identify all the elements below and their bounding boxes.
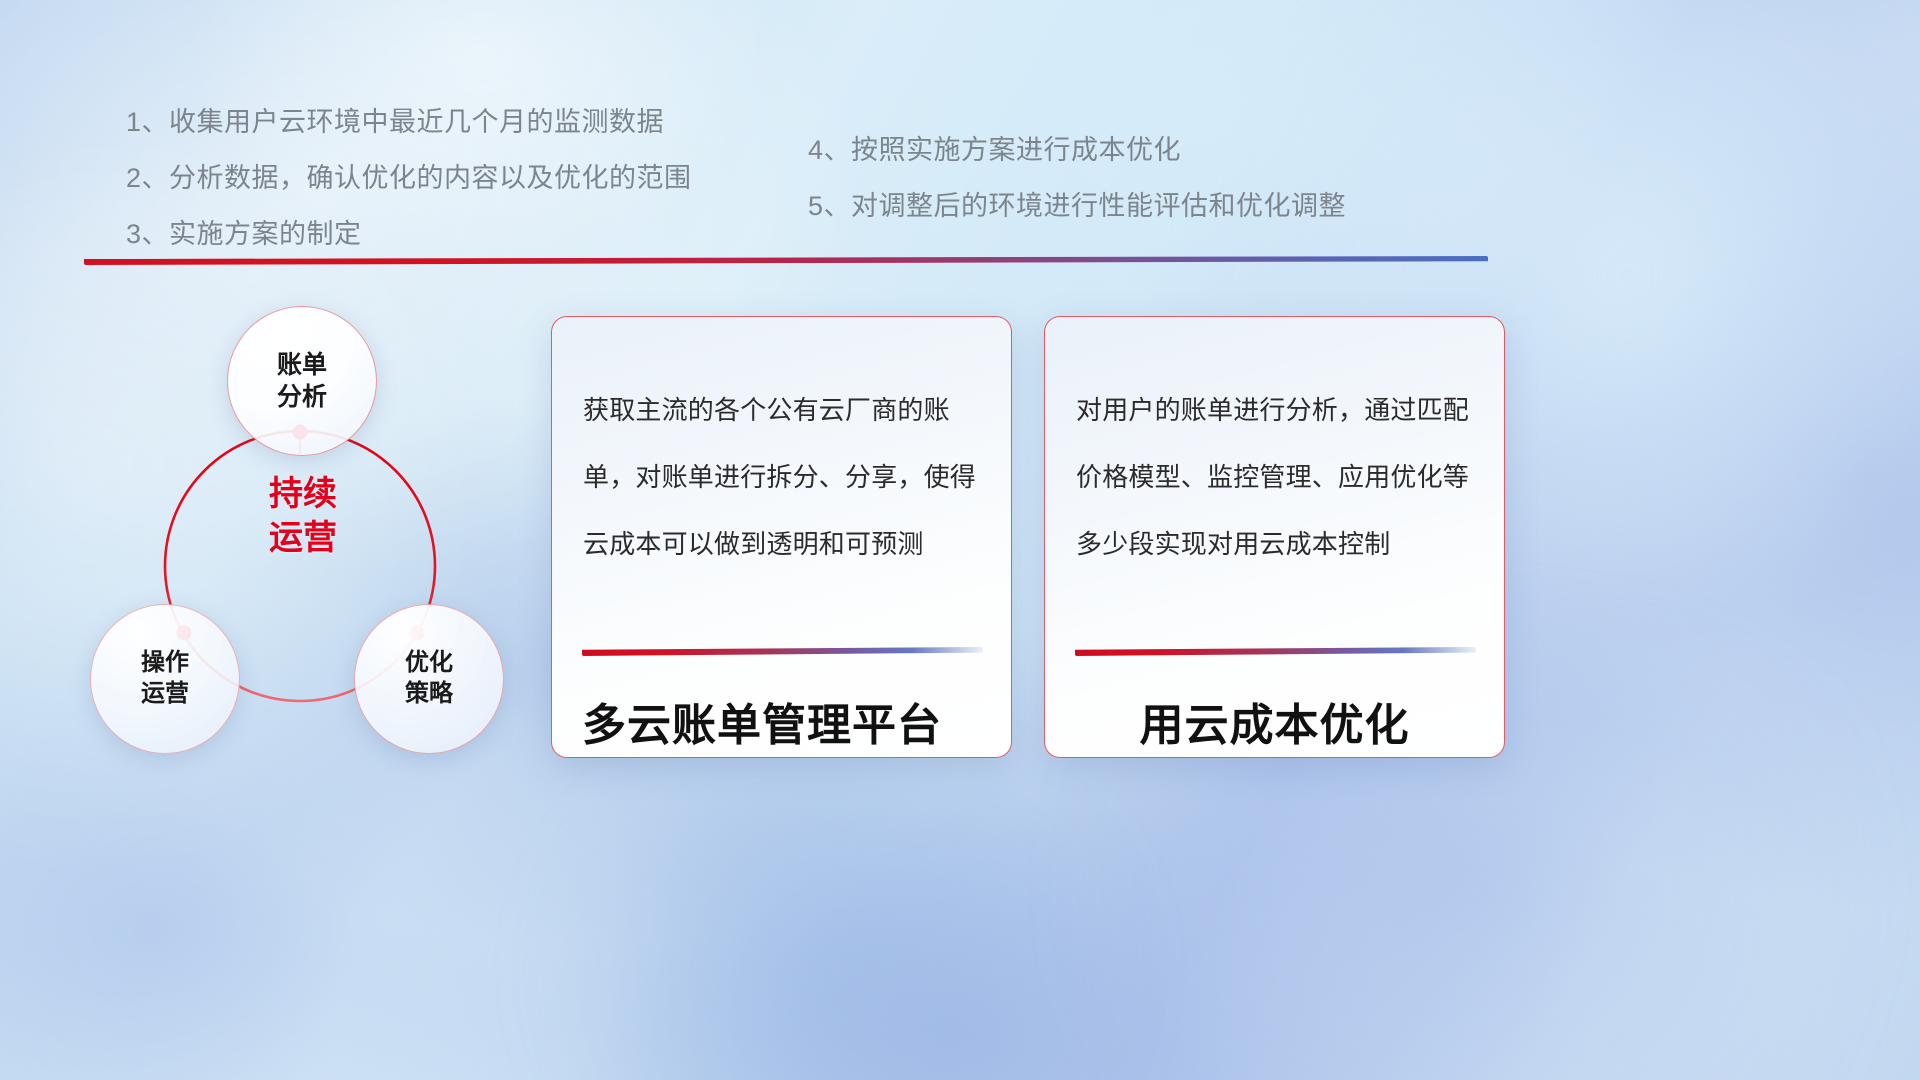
diagram-node-optimization-strategy-label: 优化 策略 [405, 648, 453, 709]
diagram-node-bill-analysis-label: 账单 分析 [277, 349, 327, 413]
step-item-3: 3、实施方案的制定 [126, 206, 692, 262]
diagram-node-operation[interactable]: 操作 运营 [90, 604, 240, 754]
continuous-operation-diagram: 账单 分析 操作 运营 优化 策略 持续 运营 [78, 286, 538, 766]
step-item-5: 5、对调整后的环境进行性能评估和优化调整 [808, 178, 1346, 234]
diagram-node-operation-label: 操作 运营 [141, 648, 189, 709]
info-card-multicloud-billing-body: 获取主流的各个公有云厂商的账单，对账单进行拆分、分享，使得云成本可以做到透明和可… [583, 377, 985, 578]
info-card-cloud-cost-optimization-accent [1075, 647, 1476, 656]
steps-left-column: 1、收集用户云环境中最近几个月的监测数据 2、分析数据，确认优化的内容以及优化的… [126, 94, 692, 262]
process-steps: 1、收集用户云环境中最近几个月的监测数据 2、分析数据，确认优化的内容以及优化的… [0, 0, 1920, 250]
step-item-4: 4、按照实施方案进行成本优化 [808, 122, 1346, 178]
steps-right-column: 4、按照实施方案进行成本优化 5、对调整后的环境进行性能评估和优化调整 [808, 122, 1346, 234]
divider-bar [84, 256, 1488, 265]
info-card-cloud-cost-optimization-title: 用云成本优化 [1065, 689, 1484, 753]
info-card-multicloud-billing-accent [582, 647, 983, 656]
info-card-multicloud-billing[interactable]: 获取主流的各个公有云厂商的账单，对账单进行拆分、分享，使得云成本可以做到透明和可… [551, 316, 1012, 758]
info-card-cloud-cost-optimization-body: 对用户的账单进行分析，通过匹配价格模型、监控管理、应用优化等多少段实现对用云成本… [1076, 377, 1478, 578]
info-card-multicloud-billing-title: 多云账单管理平台 [582, 689, 991, 753]
step-item-1: 1、收集用户云环境中最近几个月的监测数据 [126, 94, 692, 150]
info-card-cloud-cost-optimization[interactable]: 对用户的账单进行分析，通过匹配价格模型、监控管理、应用优化等多少段实现对用云成本… [1044, 316, 1505, 758]
diagram-node-bill-analysis[interactable]: 账单 分析 [227, 306, 377, 456]
section-divider [84, 256, 1488, 265]
step-item-2: 2、分析数据，确认优化的内容以及优化的范围 [126, 150, 692, 206]
diagram-node-optimization-strategy[interactable]: 优化 策略 [354, 604, 504, 754]
diagram-center-label: 持续 运营 [218, 472, 388, 560]
